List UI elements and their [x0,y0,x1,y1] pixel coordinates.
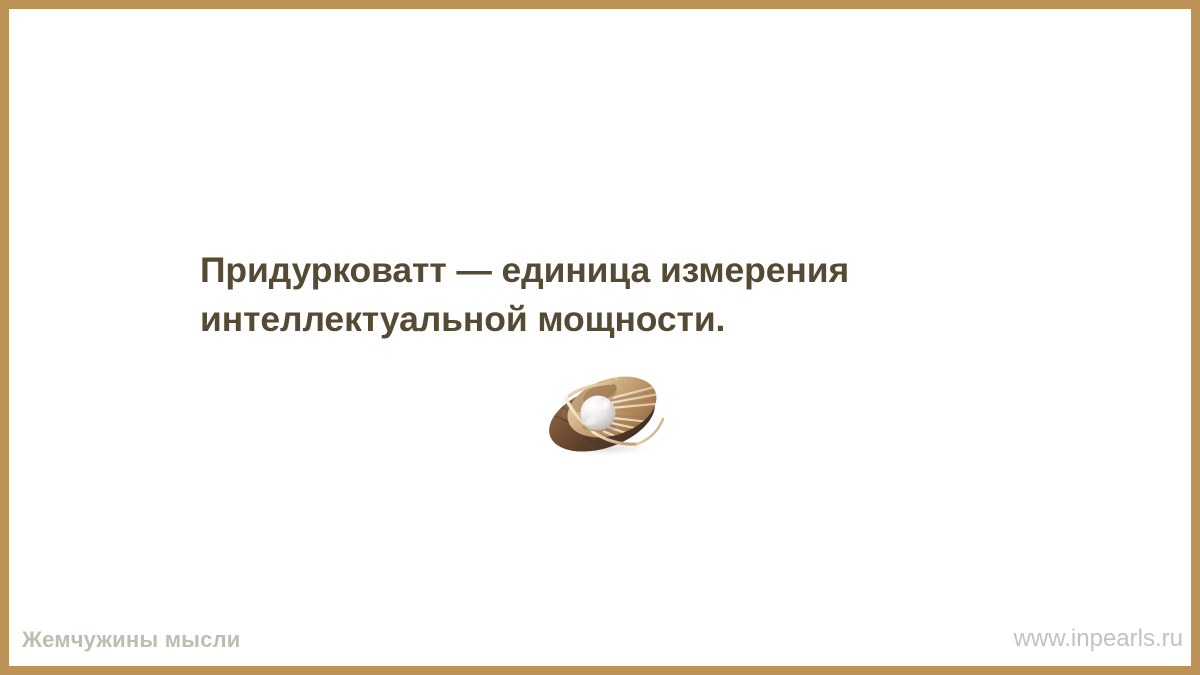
brand-label: Жемчужины мысли [22,627,241,653]
oyster-shell-with-pearl-icon [536,365,682,457]
website-link[interactable]: www.inpearls.ru [1014,625,1183,653]
quote-card: Придурковатт — единица измерения интелле… [0,0,1200,675]
quote-text: Придурковатт — единица измерения интелле… [200,246,1030,344]
sparkle-icon [615,377,618,380]
oyster-shell-svg [536,365,682,457]
